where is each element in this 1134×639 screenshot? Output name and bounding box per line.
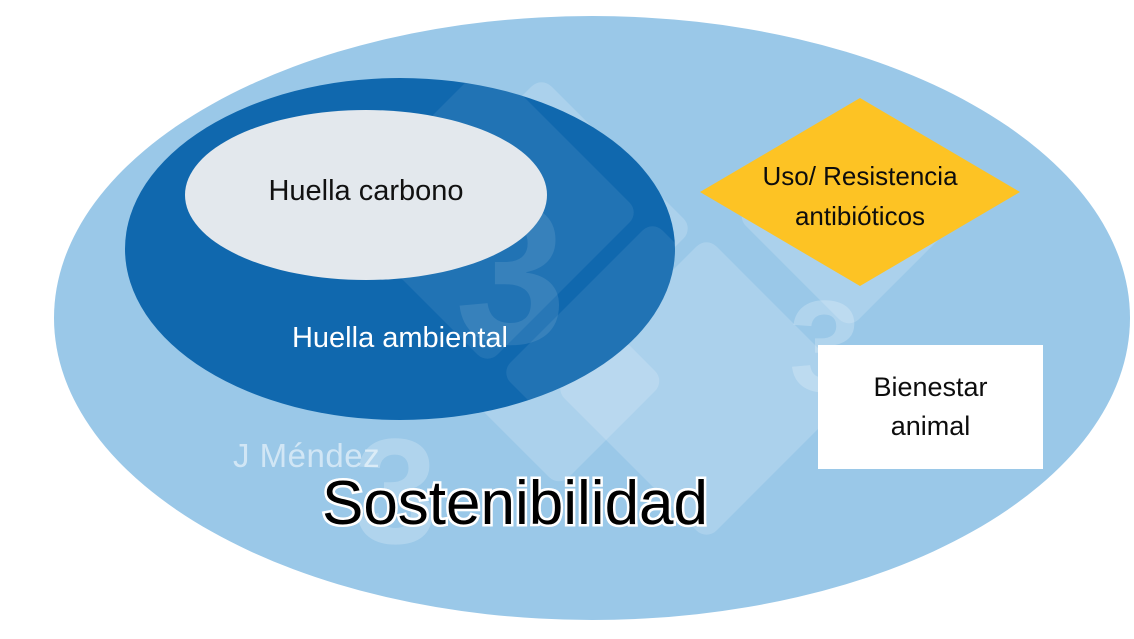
page-title: Sostenibilidad <box>0 468 1030 539</box>
box-bienestar-animal: Bienestar animal <box>818 345 1043 469</box>
diagram-canvas: 3 3 3 3 3 Huella carbono Huella ambienta… <box>0 0 1134 639</box>
diamond-label: Uso/ Resistencia antibióticos <box>680 156 1040 237</box>
diamond-label-line-1: Uso/ Resistencia <box>680 156 1040 196</box>
label-huella-ambiental: Huella ambiental <box>125 322 675 355</box>
diamond-label-line-2: antibióticos <box>680 196 1040 236</box>
diamond-uso-resistencia-antibioticos: Uso/ Resistencia antibióticos <box>700 98 1020 286</box>
label-huella-carbono: Huella carbono <box>185 175 547 208</box>
box-label-line-1: Bienestar <box>873 368 987 407</box>
box-label-line-2: animal <box>891 407 971 446</box>
